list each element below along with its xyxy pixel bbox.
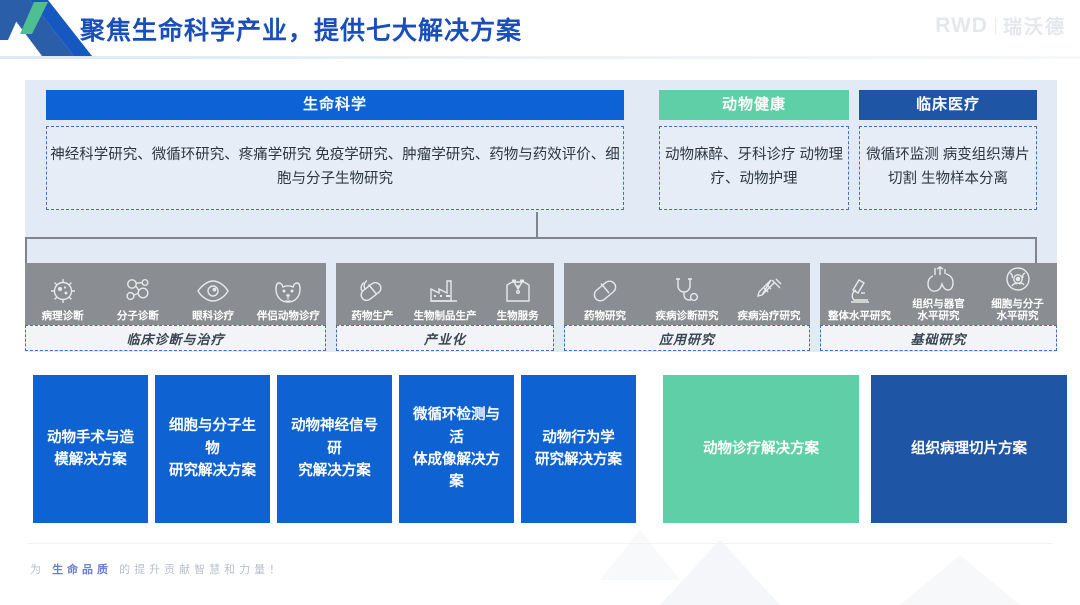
brand-chinese-text: 瑞沃德 — [1003, 12, 1066, 39]
footer-bar: 为 生命品质 的提升贡献智慧和力量！ — [0, 535, 1080, 605]
page-title: 聚焦生命科学产业，提供七大解决方案 — [80, 11, 522, 47]
band-item-label: 分子诊断 — [117, 310, 159, 322]
category-animal-health[interactable]: 动物健康 动物麻醉、牙科诊疗 动物理疗、动物护理 — [659, 90, 849, 210]
band-item-label: 疾病诊断研究 — [656, 310, 719, 322]
virus-icon — [47, 275, 79, 307]
eye-icon — [196, 275, 230, 307]
band-item[interactable]: 组织与器官 水平研究 — [899, 263, 978, 325]
category-body: 动物麻醉、牙科诊疗 动物理疗、动物护理 — [659, 126, 849, 210]
band-item-label: 病理诊断 — [42, 310, 84, 322]
heart-icon — [924, 263, 954, 295]
solution-card-behavior[interactable]: 动物行为学 研究解决方案 — [521, 375, 636, 523]
band-item[interactable]: 细胞与分子 水平研究 — [978, 263, 1057, 325]
capsules-icon — [356, 275, 388, 307]
solution-card-row: 动物手术与造 模解决方案 细胞与分子生物 研究解决方案 动物神经信号研 究解决方… — [33, 375, 1047, 523]
syringe-icon — [754, 275, 784, 307]
footer-slogan: 为 生命品质 的提升贡献智慧和力量！ — [30, 561, 284, 577]
solution-card-cell-molecular[interactable]: 细胞与分子生物 研究解决方案 — [155, 375, 270, 523]
solution-card-animal-clinic[interactable]: 动物诊疗解决方案 — [663, 375, 859, 523]
band-item[interactable]: 药物研究 — [564, 263, 646, 325]
solution-card-neural-signal[interactable]: 动物神经信号研 究解决方案 — [277, 375, 392, 523]
band-item-label: 细胞与分子 水平研究 — [991, 298, 1044, 322]
band-basic-research[interactable]: 整体水平研究 组织与器官 水平研究 — [820, 263, 1057, 351]
band-item[interactable]: 整体水平研究 — [820, 263, 899, 325]
band-item-label: 药物研究 — [584, 310, 626, 322]
brand-latin-text: RWD — [935, 14, 988, 38]
category-heading: 临床医疗 — [859, 90, 1037, 120]
band-footer-label: 应用研究 — [564, 325, 810, 351]
factory-icon — [428, 275, 462, 307]
icon-band-group: 病理诊断 分子诊断 — [25, 263, 1057, 351]
band-footer-label: 基础研究 — [820, 325, 1057, 351]
band-item[interactable]: 疾病诊断研究 — [646, 263, 728, 325]
slogan-highlight: 生命品质 — [52, 564, 112, 576]
band-icon-strip: 药物生产 生物制品生产 — [336, 263, 554, 325]
band-icon-strip: 病理诊断 分子诊断 — [25, 263, 326, 325]
band-footer-label: 产业化 — [336, 325, 554, 351]
capsule-icon — [590, 275, 620, 307]
band-icon-strip: 整体水平研究 组织与器官 水平研究 — [820, 263, 1057, 325]
molecule-icon — [122, 275, 154, 307]
band-item-label: 生物制品生产 — [414, 310, 477, 322]
category-body: 微循环监测 病变组织薄片切割 生物样本分离 — [859, 126, 1037, 210]
band-item[interactable]: 眼科诊疗 — [176, 263, 251, 325]
band-item-label: 伴侣动物诊疗 — [257, 310, 320, 322]
category-life-science[interactable]: 生命科学 神经科学研究、微循环研究、疼痛学研究 免疫学研究、肿瘤学研究、药物与药… — [46, 90, 624, 210]
category-heading: 生命科学 — [46, 90, 624, 120]
slogan-suffix: 的提升贡献智慧和力量！ — [112, 564, 284, 576]
band-item-label: 眼科诊疗 — [192, 310, 234, 322]
diagram-panel: 生命科学 神经科学研究、微循环研究、疼痛学研究 免疫学研究、肿瘤学研究、药物与药… — [25, 80, 1057, 352]
solution-card-histopathology[interactable]: 组织病理切片方案 — [871, 375, 1067, 523]
band-item[interactable]: 病理诊断 — [25, 263, 100, 325]
band-item-label: 疾病治疗研究 — [738, 310, 801, 322]
stethoscope-icon — [672, 275, 702, 307]
band-item[interactable]: 疾病治疗研究 — [728, 263, 810, 325]
band-item-label: 药物生产 — [351, 310, 393, 322]
solution-card-animal-surgery[interactable]: 动物手术与造 模解决方案 — [33, 375, 148, 523]
slogan-prefix: 为 — [30, 564, 52, 576]
band-item-label: 生物服务 — [497, 310, 539, 322]
lab-coat-icon — [503, 275, 533, 307]
dog-icon — [272, 275, 304, 307]
band-item[interactable]: 生物制品生产 — [409, 263, 482, 325]
solution-card-microcirculation[interactable]: 微循环检测与活 体成像解决方案 — [399, 375, 514, 523]
bracket-connector — [25, 212, 1057, 270]
band-item-label: 组织与器官 水平研究 — [912, 298, 965, 322]
band-item[interactable]: 生物服务 — [481, 263, 554, 325]
band-footer-label: 临床诊断与治疗 — [25, 325, 326, 351]
microscope-icon — [845, 275, 875, 307]
header-underline — [0, 56, 1080, 59]
band-applied-research[interactable]: 药物研究 疾病诊断研究 — [564, 263, 810, 351]
category-clinical-medicine[interactable]: 临床医疗 微循环监测 病变组织薄片切割 生物样本分离 — [859, 90, 1037, 210]
band-clinical-diagnosis-treatment[interactable]: 病理诊断 分子诊断 — [25, 263, 326, 351]
category-body: 神经科学研究、微循环研究、疼痛学研究 免疫学研究、肿瘤学研究、药物与药效评价、细… — [46, 126, 624, 210]
band-item[interactable]: 分子诊断 — [100, 263, 175, 325]
slide-root: 聚焦生命科学产业，提供七大解决方案 RWD 瑞沃德 生命科学 神经科学研究、微循… — [0, 0, 1080, 605]
band-item[interactable]: 药物生产 — [336, 263, 409, 325]
brand-lockup: RWD 瑞沃德 — [935, 12, 1066, 39]
cell-icon — [1003, 263, 1033, 295]
band-industrialization[interactable]: 药物生产 生物制品生产 — [336, 263, 554, 351]
band-icon-strip: 药物研究 疾病诊断研究 — [564, 263, 810, 325]
category-heading: 动物健康 — [659, 90, 849, 120]
footer-divider — [28, 543, 1052, 544]
header-bar: 聚焦生命科学产业，提供七大解决方案 RWD 瑞沃德 — [0, 0, 1080, 56]
brand-divider — [995, 17, 996, 34]
band-item[interactable]: 伴侣动物诊疗 — [251, 263, 326, 325]
band-item-label: 整体水平研究 — [828, 310, 891, 322]
